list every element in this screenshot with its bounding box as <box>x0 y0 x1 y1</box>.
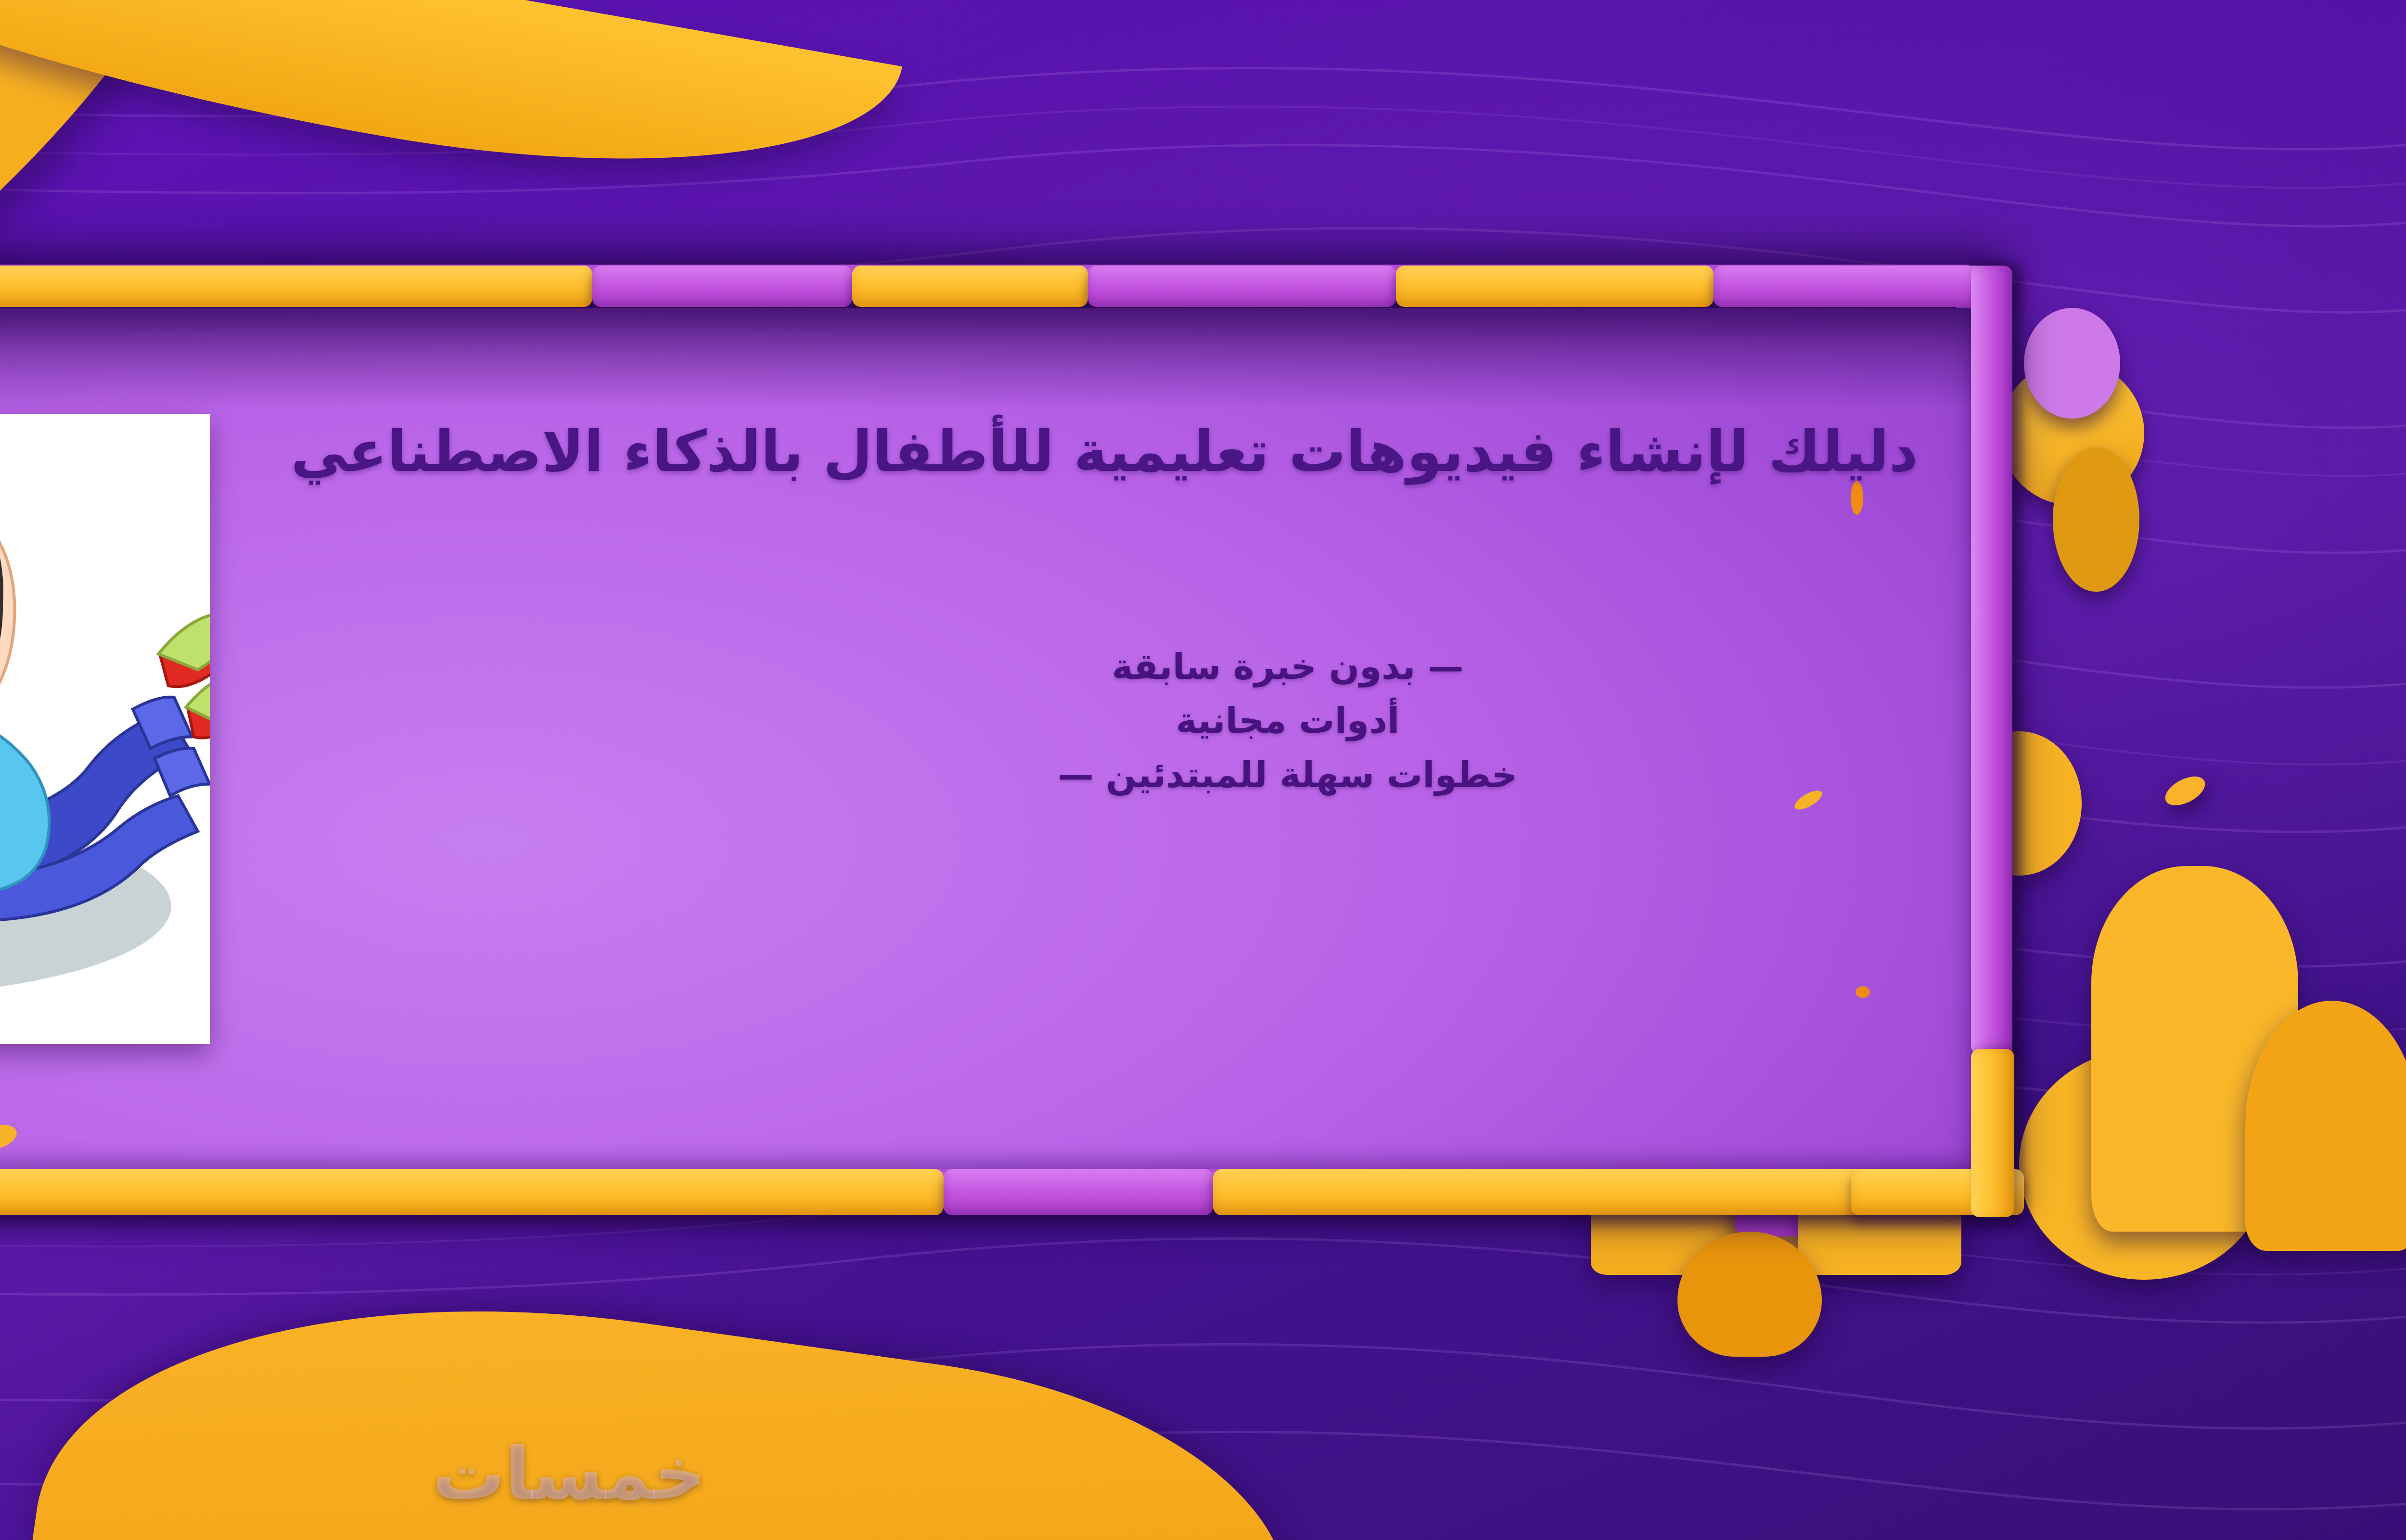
page-title: دليلك لإنشاء فيديوهات تعليمية للأطفال با… <box>0 418 1918 485</box>
decor-ellipse-orange-right <box>2053 447 2139 592</box>
confetti-blob <box>2161 771 2210 812</box>
decor-circle-purple-right <box>2024 308 2120 419</box>
frame-rail-top-6 <box>1088 266 1396 307</box>
frame-corner-right-vert-bottom <box>1971 1049 2014 1217</box>
panel-confetti <box>0 1120 20 1155</box>
inner-panel: دليلك لإنشاء فيديوهات تعليمية للأطفال با… <box>0 308 1976 1169</box>
frame-rail-top-7 <box>1396 266 1714 307</box>
frame-rail-top-8 <box>1714 266 2012 307</box>
panel-confetti <box>1856 986 1870 998</box>
list-item: أدوات مجانية <box>686 694 1889 748</box>
banner-stage: دليلك لإنشاء فيديوهات تعليمية للأطفال با… <box>0 0 2406 1540</box>
frame-rail-top-4 <box>592 266 852 307</box>
panel-confetti <box>1851 481 1863 515</box>
frame-rail-top-5 <box>852 266 1088 307</box>
cloud-blob-cluster <box>2019 1049 2269 1280</box>
cloud-blob-cluster <box>2245 1001 2406 1251</box>
panel-top-shadow <box>0 308 1976 409</box>
frame-rail-top-3 <box>0 266 592 307</box>
decor-circle-orange-right <box>2000 361 2144 505</box>
list-item: — بدون خبرة سابقة <box>686 640 1889 694</box>
watermark-khamsat: خمسات <box>0 1432 2406 1516</box>
paint-swath-top-center <box>0 0 902 223</box>
frame-rail-bottom-3 <box>944 1169 1213 1215</box>
paint-swath-bottom-center <box>21 1243 1313 1540</box>
frame-corner-right-vert <box>1971 266 2012 1055</box>
cloud-blob-cluster <box>2091 866 2298 1232</box>
frame-rail-bottom-2 <box>0 1169 944 1215</box>
cloud-blob-cluster <box>1677 1232 1822 1357</box>
list-item: خطوات سهلة للمبتدئين — <box>686 748 1889 802</box>
illustration-card <box>0 414 210 1044</box>
feature-list: — بدون خبرة سابقة أدوات مجانية خطوات سهل… <box>686 640 1889 802</box>
girl-drawing-illustration <box>0 414 210 1044</box>
